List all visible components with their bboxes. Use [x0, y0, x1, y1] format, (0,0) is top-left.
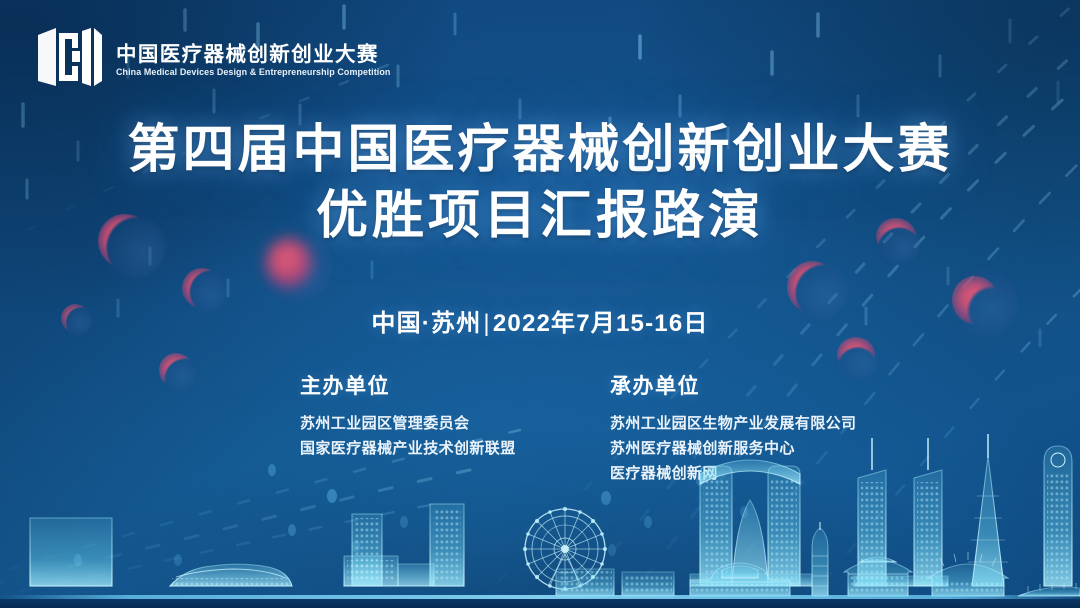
organizers-section: 主办单位 苏州工业园区管理委员会 国家医疗器械产业技术创新联盟 承办单位 苏州工… — [300, 370, 920, 487]
dateline-separator: | — [481, 310, 492, 337]
headline-line-1: 第四届中国医疗器械创新创业大赛 — [0, 118, 1080, 184]
open-door-window-logo-icon — [36, 26, 104, 92]
organizer-entry: 苏州医疗器械创新服务中心 — [610, 436, 920, 461]
poster-canvas: 中国医疗器械创新创业大赛 China Medical Devices Desig… — [0, 0, 1080, 608]
bottom-strip — [0, 599, 1080, 608]
page-title: 第四届中国医疗器械创新创业大赛 优胜项目汇报路演 — [0, 118, 1080, 249]
organizer-entry: 国家医疗器械产业技术创新联盟 — [300, 436, 610, 461]
logo-cn-name: 中国医疗器械创新创业大赛 — [116, 45, 402, 66]
organizer-title: 主办单位 — [300, 370, 610, 400]
logo-block: 中国医疗器械创新创业大赛 China Medical Devices Desig… — [36, 26, 402, 92]
event-date: 2022年7月15-16日 — [493, 310, 709, 337]
event-dateline: 中国·苏州|2022年7月15-16日 — [0, 303, 1080, 338]
organizer-entry: 苏州工业园区管理委员会 — [300, 411, 610, 436]
decorative-orb — [160, 355, 196, 391]
logo-text: 中国医疗器械创新创业大赛 China Medical Devices Desig… — [116, 41, 402, 78]
organizer-entry: 苏州工业园区生物产业发展有限公司 — [610, 411, 920, 436]
organizer-column-host: 主办单位 苏州工业园区管理委员会 国家医疗器械产业技术创新联盟 — [300, 370, 610, 487]
headline-line-2: 优胜项目汇报路演 — [0, 184, 1080, 250]
organizer-title: 承办单位 — [610, 370, 920, 400]
event-location: 中国·苏州 — [371, 310, 481, 337]
organizer-entry: 医疗器械创新网 — [610, 461, 920, 486]
logo-en-name: China Medical Devices Design & Entrepren… — [116, 68, 390, 77]
organizer-column-coorganizer: 承办单位 苏州工业园区生物产业发展有限公司 苏州医疗器械创新服务中心 医疗器械创… — [610, 370, 920, 487]
